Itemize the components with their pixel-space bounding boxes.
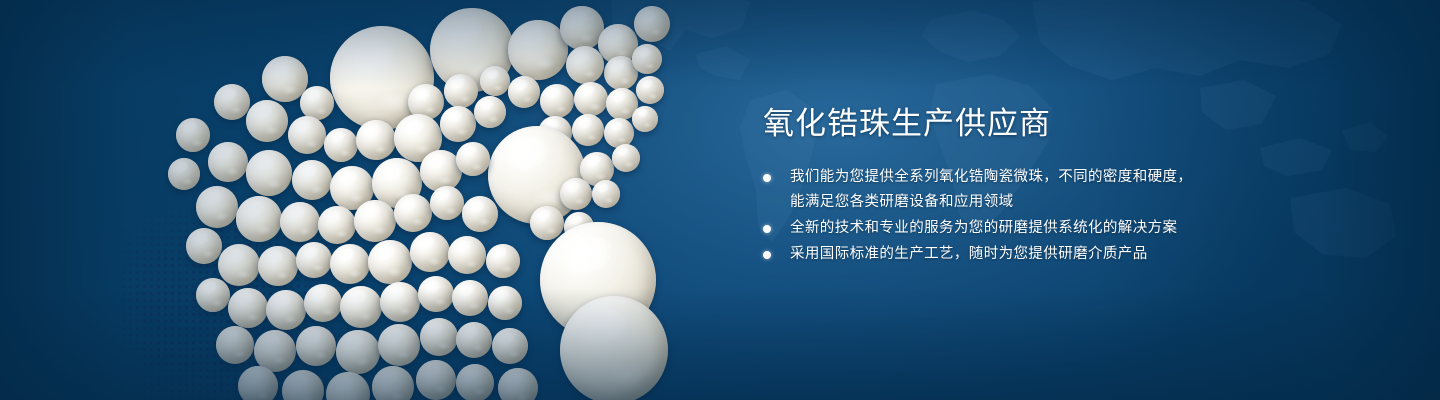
list-item: 我们能为您提供全系列氧化锆陶瓷微珠，不同的密度和硬度， 能满足您各类研磨设备和应… [763, 165, 1323, 215]
bullet-dot-icon [763, 174, 771, 182]
bullet-text-line: 我们能为您提供全系列氧化锆陶瓷微珠，不同的密度和硬度， [790, 165, 1323, 190]
bullet-text-line: 采用国际标准的生产工艺，随时为您提供研磨介质产品 [790, 242, 1323, 267]
list-item: 采用国际标准的生产工艺，随时为您提供研磨介质产品 [763, 242, 1323, 267]
promo-banner: 氧化锆珠生产供应商 我们能为您提供全系列氧化锆陶瓷微珠，不同的密度和硬度， 能满… [0, 0, 1440, 400]
list-item: 全新的技术和专业的服务为您的研磨提供系统化的解决方案 [763, 216, 1323, 241]
bullet-dot-icon [763, 251, 771, 259]
page-title: 氧化锆珠生产供应商 [763, 104, 1323, 144]
bullet-dot-icon [763, 225, 771, 233]
bullet-text-line: 能满足您各类研磨设备和应用领域 [790, 190, 1323, 215]
bullet-text-line: 全新的技术和专业的服务为您的研磨提供系统化的解决方案 [790, 216, 1323, 241]
banner-copy-block: 氧化锆珠生产供应商 我们能为您提供全系列氧化锆陶瓷微珠，不同的密度和硬度， 能满… [763, 104, 1323, 268]
feature-bullet-list: 我们能为您提供全系列氧化锆陶瓷微珠，不同的密度和硬度， 能满足您各类研磨设备和应… [763, 165, 1323, 267]
